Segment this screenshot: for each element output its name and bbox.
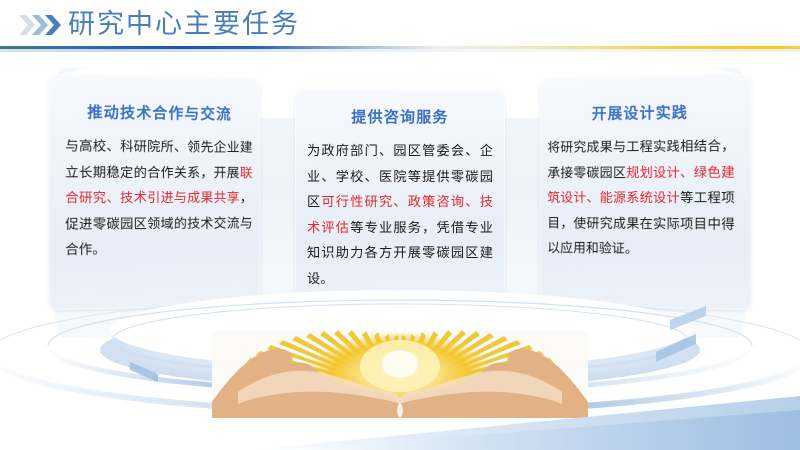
slide-stage: 推动技术合作与交流 与高校、科研院所、领先企业建立长期稳定的合作关系，开展联合研… [0,52,800,450]
card-tech-cooperation[interactable]: 推动技术合作与交流 与高校、科研院所、领先企业建立长期稳定的合作关系，开展联合研… [49,74,260,310]
card-body-segment: 与高校、科研院所、领先企业建立长期稳定的合作关系，开展 [65,138,252,180]
chevron-right-icon-1 [19,14,65,36]
card-title-consulting-service: 提供咨询服务 [307,108,493,128]
card-consulting-service[interactable]: 提供咨询服务 为政府部门、园区管委会、企业、学校、医院等提供零碳园区可行性研究、… [295,90,505,298]
bottom-blue-swoosh [0,360,800,450]
slide-header: 研究中心主要任务 [0,0,800,52]
card-title-tech-cooperation: 推动技术合作与交流 [65,103,252,126]
bottom-swoosh-svg [0,360,800,450]
card-title-design-practice: 开展设计实践 [547,103,734,126]
card-body-design-practice: 将研究成果与工程实践相结合，承接零碳园区规划设计、绿色建筑设计、能源系统设计等工… [547,133,734,263]
page-title: 研究中心主要任务 [68,6,300,42]
slide-canvas: 研究中心主要任务 推动技术合作与交流 与高校、科研院所、领先企业建立长期稳定的合… [0,0,800,450]
card-body-consulting-service: 为政府部门、园区管委会、企业、学校、医院等提供零碳园区可行性研究、政策咨询、技术… [307,138,493,291]
swoosh-lower-band [285,410,800,450]
chevron-arrows-group [19,14,65,36]
card-design-practice[interactable]: 开展设计实践 将研究成果与工程实践相结合，承接零碳园区规划设计、绿色建筑设计、能… [540,74,751,310]
card-body-tech-cooperation: 与高校、科研院所、领先企业建立长期稳定的合作关系，开展联合研究、技术引进与成果共… [65,133,252,263]
